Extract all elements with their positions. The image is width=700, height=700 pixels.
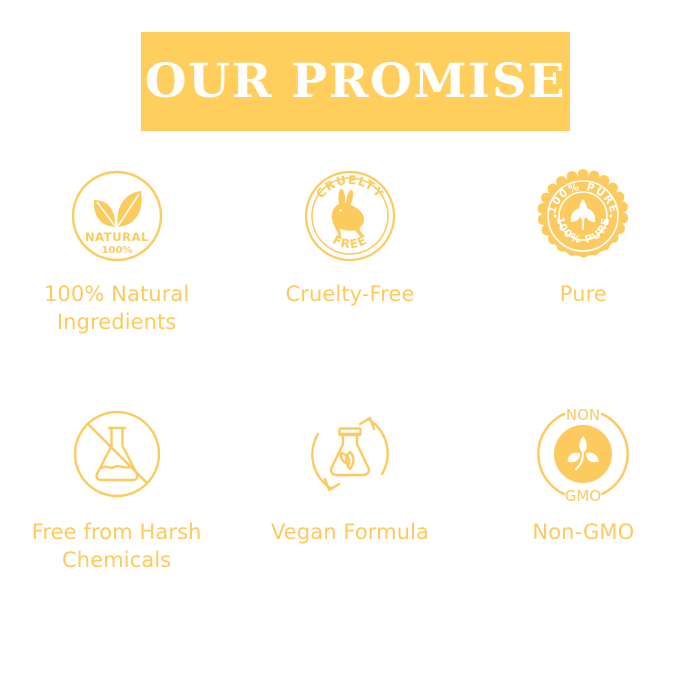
promise-item-vegan-formula[interactable]: Vegan Formula	[233, 398, 466, 574]
promise-item-no-harsh-chemicals[interactable]: Free from Harsh Chemicals	[0, 398, 233, 574]
non-gmo-sprout-icon: NON GMO	[527, 398, 639, 510]
promise-item-natural[interactable]: NATURAL 100% 100% Natural Ingredients	[0, 160, 233, 336]
promise-label: 100% Natural Ingredients	[12, 281, 222, 336]
no-chemicals-flask-icon	[61, 398, 173, 510]
promise-item-pure[interactable]: 100% PURE 100% PURE	[467, 160, 700, 336]
promise-grid: NATURAL 100% 100% Natural Ingredients CR…	[0, 160, 700, 575]
svg-text:GMO: GMO	[565, 487, 601, 505]
promise-label: Cruelty-Free	[285, 281, 414, 309]
page-title: OUR PROMISE	[145, 58, 566, 105]
promise-item-non-gmo[interactable]: NON GMO Non-GMO	[467, 398, 700, 574]
promise-label: Free from Harsh Chemicals	[12, 519, 222, 574]
100-percent-pure-seal-icon: 100% PURE 100% PURE	[527, 160, 639, 272]
vegan-flask-leaf-cycle-icon	[294, 398, 406, 510]
svg-text:NATURAL: NATURAL	[85, 230, 149, 244]
svg-text:NON: NON	[566, 406, 600, 424]
natural-100-leaf-badge-icon: NATURAL 100%	[61, 160, 173, 272]
cruelty-free-rabbit-badge-icon: CRUELTY FREE	[294, 160, 406, 272]
promise-page: OUR PROMISE NATURAL 100% 100% Natural In…	[0, 0, 700, 700]
promise-item-cruelty-free[interactable]: CRUELTY FREE Cruelty-Free	[233, 160, 466, 336]
promise-label: Vegan Formula	[271, 519, 429, 547]
header-banner: OUR PROMISE	[141, 32, 570, 131]
promise-label: Non-GMO	[532, 519, 634, 547]
promise-label: Pure	[560, 281, 607, 309]
svg-text:100%: 100%	[101, 245, 132, 256]
